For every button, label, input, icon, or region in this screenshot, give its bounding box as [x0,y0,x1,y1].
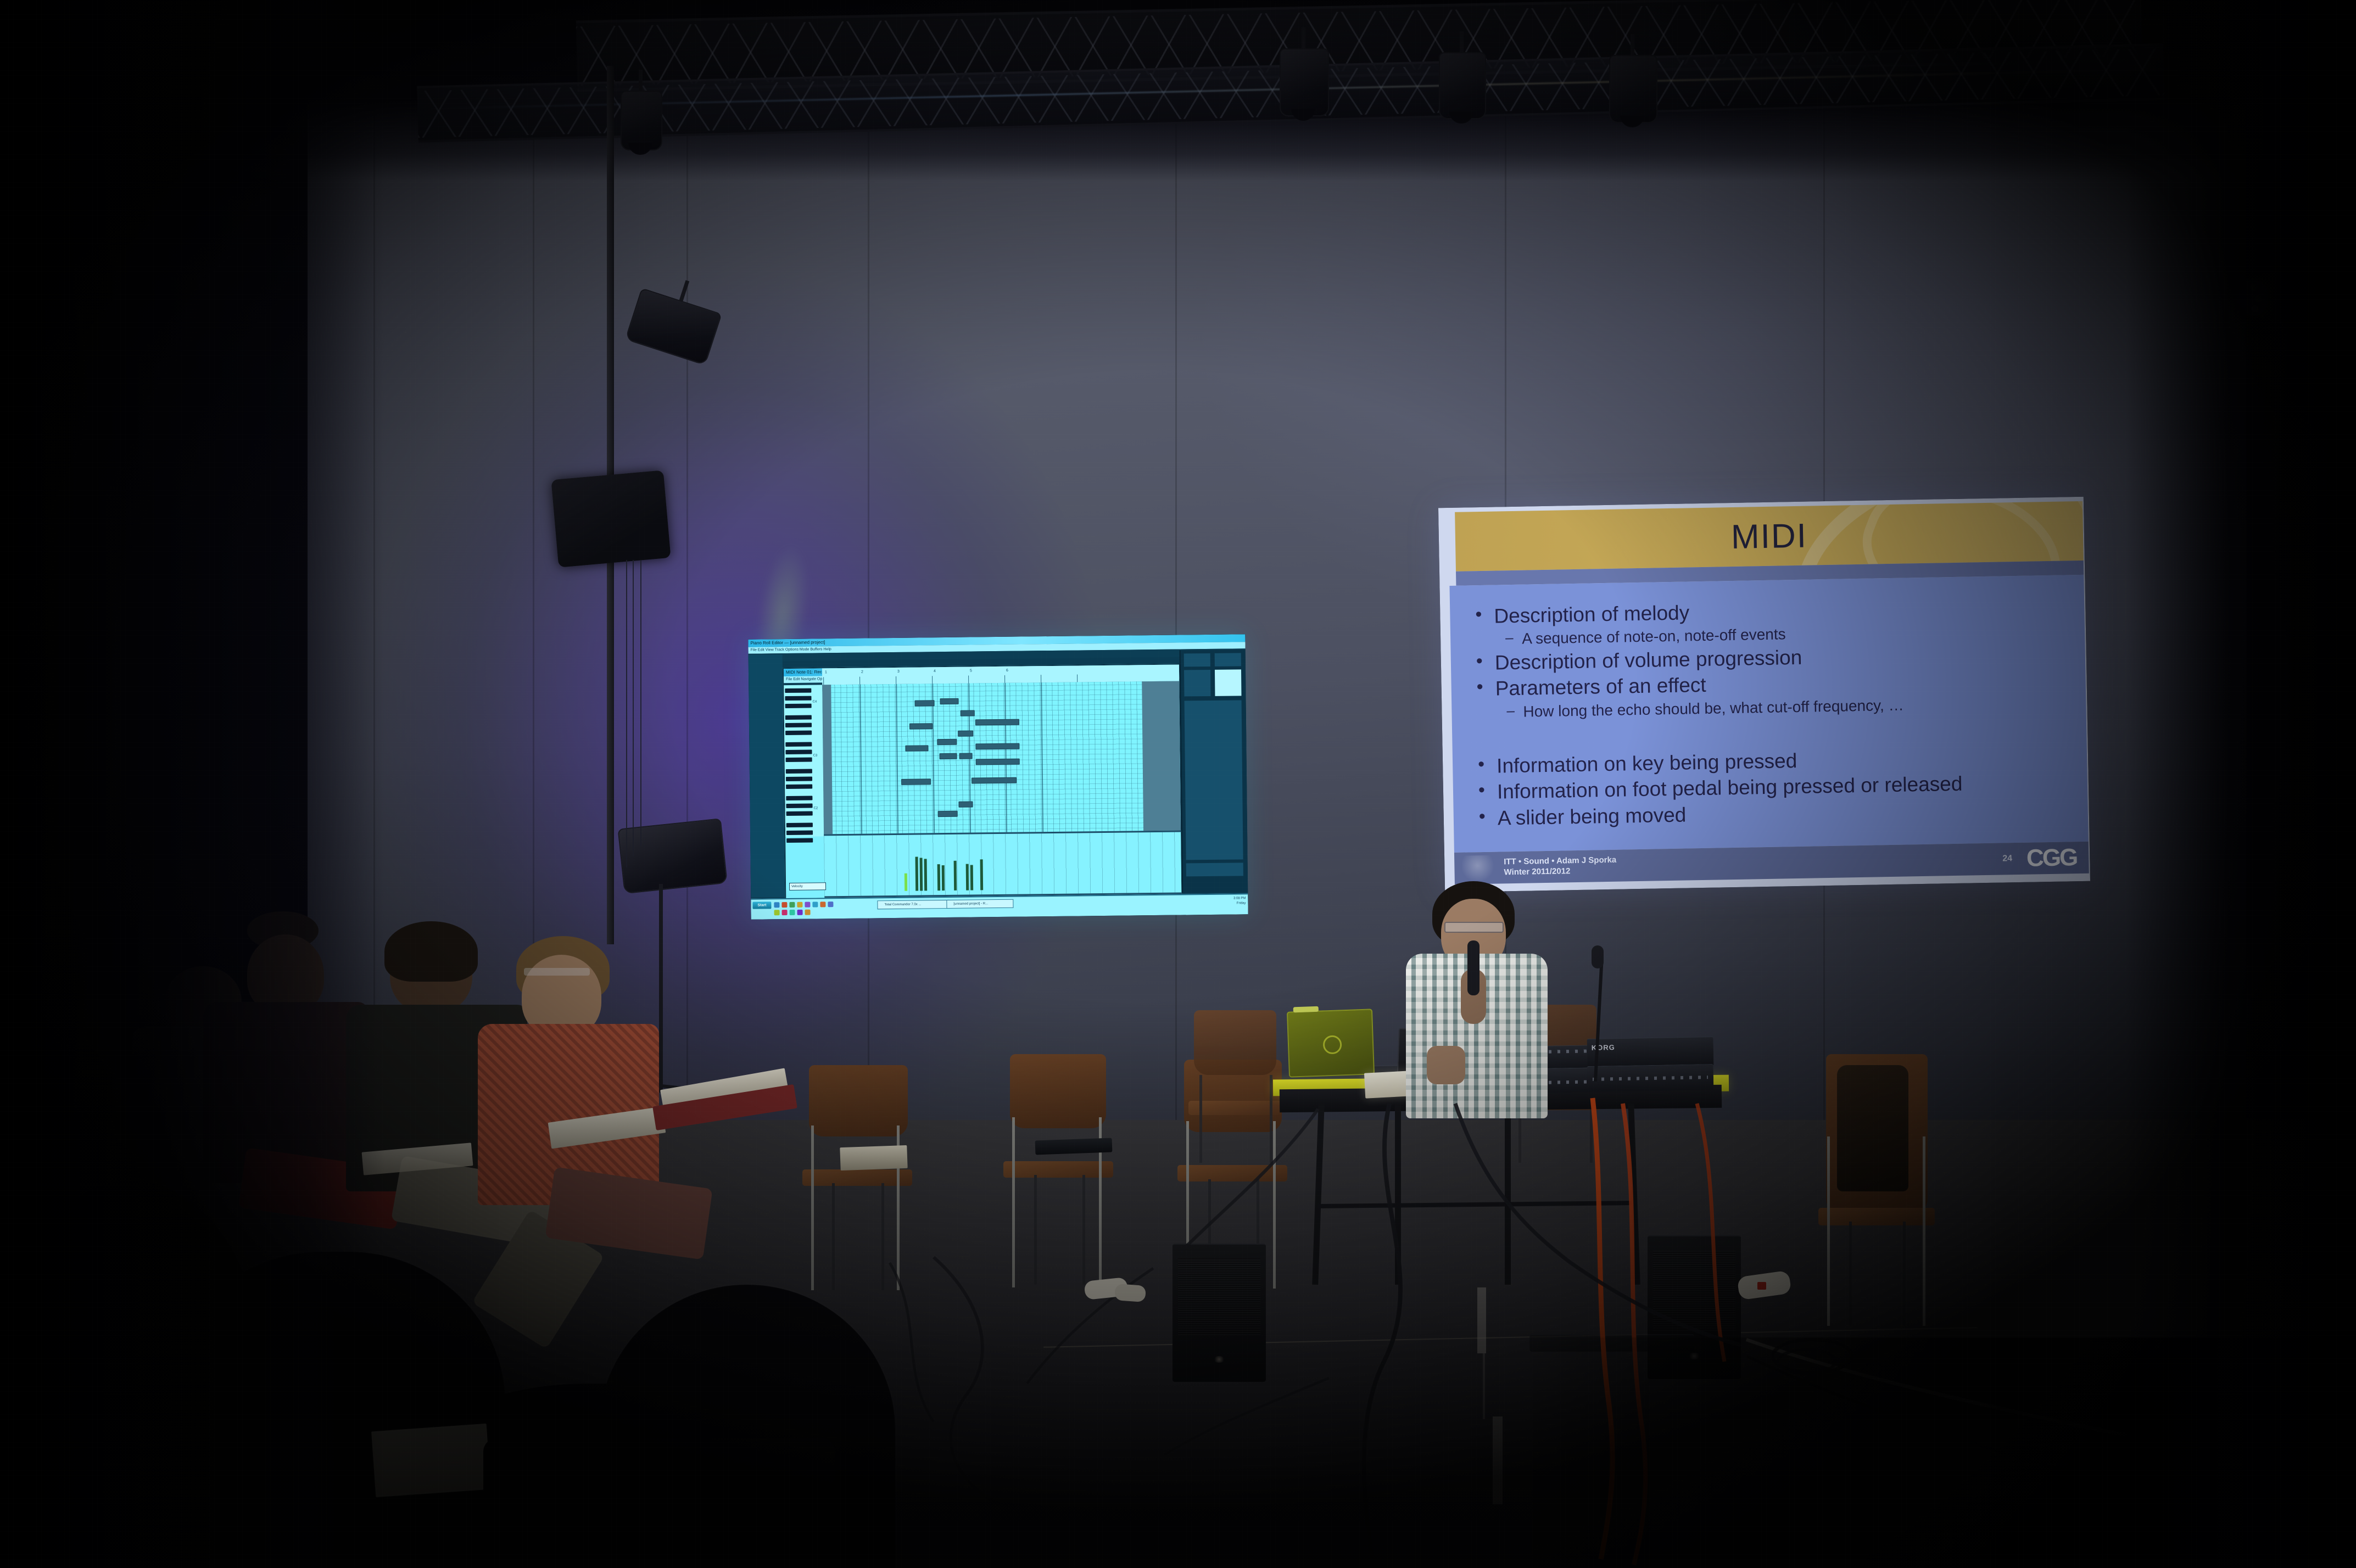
midi-note[interactable] [961,710,975,716]
midi-note[interactable] [958,801,973,807]
ruler-number: 2 [861,670,863,674]
bullet-text: Parameters of an effect [1495,674,1706,700]
projected-daw-screen: Piano Roll Editor — [unnamed project] Fi… [748,634,1248,919]
presenter-glasses-icon [1444,922,1504,933]
slide-body: • Description of melody – A sequence of … [1449,575,2088,853]
wall-speaker [551,470,671,567]
bullet-marker: – [1505,630,1522,646]
speaker-cable-1 [626,560,627,867]
taskbar-window-1[interactable]: Total Commander 7.0x ... [877,900,950,909]
ruler-number: 1 [825,670,827,674]
velocity-bar[interactable] [937,864,941,891]
stage-lamp-3 [1609,55,1655,121]
midi-note[interactable] [937,739,957,745]
midi-note[interactable] [901,779,931,785]
velocity-bar[interactable] [980,859,984,890]
bullet-text: Description of volume progression [1495,646,1802,674]
stage-lamp-1 [1280,48,1327,114]
quicklaunch-icon-4[interactable] [797,902,802,908]
floor-tape-mark-3 [1483,1353,1485,1419]
velocity-bar[interactable] [970,865,973,890]
notepad-foreground [371,1424,491,1497]
book-on-chair-1 [840,1145,907,1171]
midi-note[interactable] [972,777,1017,784]
left-wall-shadow [0,0,384,1568]
quicklaunch-icon-3[interactable] [789,902,795,908]
laptop-latch [1293,1006,1319,1013]
bullet-text: Information on key being pressed [1497,749,1797,777]
backpack [1837,1065,1908,1191]
presenter [1384,881,1565,1112]
daw-left-panel [749,654,785,898]
quicklaunch-icon-8[interactable] [828,901,833,907]
device-on-chair-2 [1035,1138,1113,1155]
velocity-lane[interactable] [824,831,1181,898]
boom-mic-head [1592,945,1604,968]
quicklaunch-icon-2[interactable] [781,902,787,908]
velocity-bar[interactable] [942,865,945,891]
power-switch-indicator [1757,1282,1766,1290]
midi-note[interactable] [976,759,1020,765]
velocity-bar[interactable] [905,873,907,891]
quicklaunch-icon-7[interactable] [820,901,825,907]
key-label: C3 [813,754,818,757]
bullet-text: How long the echo should be, what cut-of… [1523,696,1904,720]
velocity-bar[interactable] [966,864,969,891]
bullet-marker: • [1476,651,1495,671]
ruler-number: 3 [897,670,900,674]
speaker-cable-2 [633,560,634,856]
table-leg-center [1505,1104,1511,1285]
slide-footer-credit: ITT • Sound • Adam J Sporka Winter 2011/… [1504,855,1617,878]
midi-note[interactable] [940,698,958,704]
tray-time: 3:08 PM [1233,896,1246,901]
synth-lower-unit [1587,1064,1714,1092]
bullet-text: Information on foot pedal being pressed … [1497,772,1963,803]
handheld-microphone [1467,940,1480,995]
bullet-marker: – [1506,703,1523,718]
slide-page-number: 24 [2002,854,2012,864]
quicklaunch-icon-1[interactable] [774,902,779,908]
bullet-text: A sequence of note-on, note-off events [1522,626,1786,648]
quicklaunch-icon-10[interactable] [782,910,788,915]
bullet-text: A slider being moved [1497,803,1686,829]
velocity-bar[interactable] [924,859,928,891]
glasses-icon [524,968,590,976]
piano-roll-grid[interactable] [822,681,1181,837]
lecture-hall-photo: MIDI • Description of melody – A sequenc… [0,0,2356,1568]
midi-note[interactable] [938,811,958,817]
bullet-marker: • [1475,605,1494,625]
midi-note[interactable] [975,719,1019,726]
institution-logo-icon [1462,855,1501,881]
slide-title-band: MIDI [1455,501,2084,572]
taskbar-window-2[interactable]: [unnamed project] - R... [946,899,1013,909]
tray-day: Friday [1233,901,1246,906]
power-plug-2 [1114,1284,1146,1302]
quicklaunch-icon-12[interactable] [797,910,803,915]
quicklaunch-icon-9[interactable] [774,910,780,915]
quicklaunch-icon-5[interactable] [805,902,810,908]
slide-title: MIDI [1455,501,2084,572]
right-wall-shadow [2125,0,2356,1568]
korg-synth: KORG [1587,1037,1714,1068]
daw-mixer-panel [1180,649,1248,893]
bullet-text: Description of melody [1494,601,1689,628]
bullet-marker: • [1478,755,1497,775]
chair-4 [1186,1010,1285,1164]
ruler-number: 5 [970,669,972,673]
presenter-left-hand [1427,1046,1465,1084]
midi-note[interactable] [940,753,957,759]
bullet-marker: • [1478,781,1498,800]
projected-slide: MIDI • Description of melody – A sequenc… [1438,497,2090,892]
start-button[interactable]: Start [752,901,771,909]
ruler-number: 6 [1006,669,1008,673]
floor-tape-mark-2 [1493,1416,1503,1504]
velocity-bar[interactable] [954,861,957,891]
bullet-marker: • [1478,807,1498,826]
cgg-logo: CGG [2026,844,2077,872]
quicklaunch-icon-11[interactable] [790,910,795,915]
velocity-bar[interactable] [915,857,919,891]
stage-lamp-2 [1439,52,1484,117]
midi-note[interactable] [958,730,973,736]
midi-note[interactable] [959,753,973,759]
dell-logo-icon [1323,1035,1342,1054]
quicklaunch-icon-6[interactable] [812,901,818,907]
velocity-bar[interactable] [920,858,923,891]
stage-lamp-4 [621,91,660,148]
quicklaunch-icon-13[interactable] [805,910,811,915]
midi-note[interactable] [975,743,1019,750]
daw-piano-roll-window: MIDI Note 01: Recording Edit File Edit N… [783,664,1182,900]
velocity-lane-selector[interactable]: Velocity [789,882,826,891]
bullet-marker: • [1476,677,1495,697]
speaker-cable-3 [640,560,641,845]
system-tray[interactable]: 3:08 PM Friday [1233,896,1246,906]
key-label: C2 [814,807,818,810]
key-label: C4 [813,700,817,703]
chair-2 [1002,1054,1115,1296]
ruler-number: 4 [934,669,936,673]
table-leg-mid [1395,1104,1401,1285]
piano-keyboard[interactable]: C4 C3 C2 [784,685,824,837]
chair-1 [799,1065,917,1296]
floor-monitor-left [1173,1244,1266,1382]
midi-note[interactable] [915,700,935,706]
midi-note[interactable] [909,723,933,729]
floor-tape-mark-1 [1477,1287,1486,1353]
foreground-chair-back [483,1438,835,1568]
midi-note[interactable] [905,745,928,751]
yellow-laptop [1287,1009,1375,1077]
